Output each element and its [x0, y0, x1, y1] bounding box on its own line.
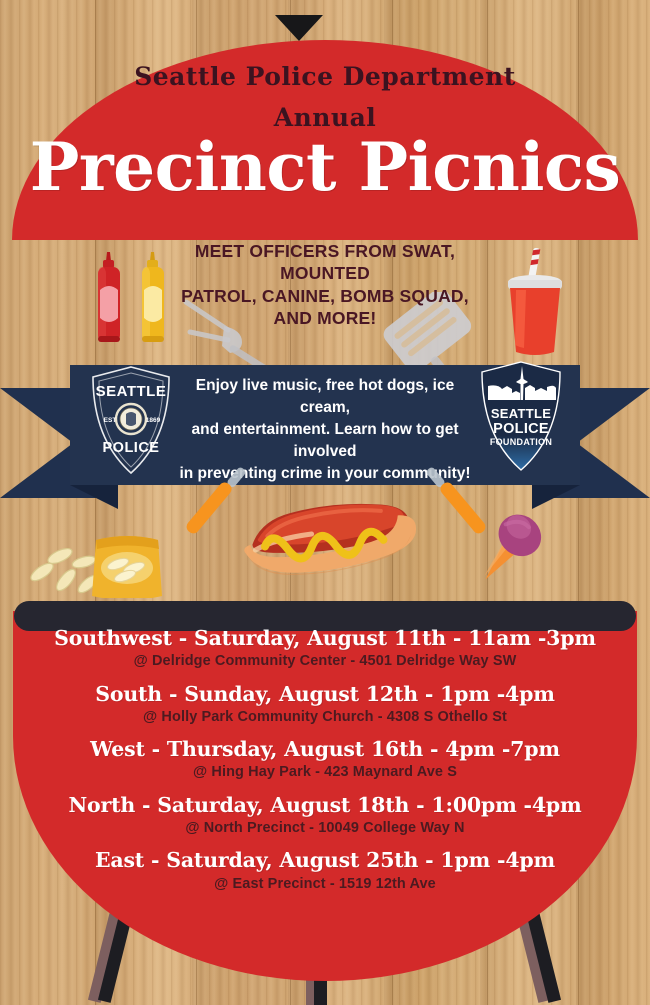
poster-canvas: Seattle Police Department Annual Precinc…	[0, 0, 650, 1005]
seattle-police-badge-logo: SEATTLE EST 1869 POLICE	[88, 364, 174, 476]
subtitle-line-1: MEET OFFICERS FROM SWAT, MOUNTED	[150, 240, 500, 285]
seattle-police-foundation-logo: SEATTLE POLICE FOUNDATION	[478, 360, 564, 472]
subtitle-line-2: PATROL, CANINE, BOMB SQUAD,	[150, 285, 500, 307]
ribbon-line-2: and entertainment. Learn how to get invo…	[170, 419, 480, 463]
event-location: @ East Precinct - 1519 12th Ave	[35, 876, 615, 893]
subtitle-text: MEET OFFICERS FROM SWAT, MOUNTED PATROL,…	[150, 240, 500, 330]
event-item: Southwest - Saturday, August 11th - 11am…	[35, 626, 615, 671]
foundation-line-2: POLICE	[493, 421, 549, 437]
event-item: South - Sunday, August 12th - 1pm -4pm @…	[35, 682, 615, 727]
chips-bag-icon	[26, 522, 166, 598]
event-title: South - Sunday, August 12th - 1pm -4pm	[35, 682, 615, 706]
badge-bottom-label: POLICE	[103, 440, 160, 456]
event-title: North - Saturday, August 18th - 1:00pm -…	[35, 793, 615, 817]
page-title-main: Precinct Picnics	[0, 134, 650, 200]
soda-cup-icon	[502, 248, 568, 356]
badge-est-label: EST	[104, 417, 117, 424]
foundation-line-1: SEATTLE	[491, 406, 551, 421]
grill-knob-icon	[275, 15, 323, 41]
ribbon-line-1: Enjoy live music, free hot dogs, ice cre…	[170, 375, 480, 419]
event-location: @ North Precinct - 10049 College Way N	[35, 820, 615, 837]
event-title: Southwest - Saturday, August 11th - 11am…	[35, 626, 615, 650]
event-title: West - Thursday, August 16th - 4pm -7pm	[35, 737, 615, 761]
page-title-department: Seattle Police Department	[0, 62, 650, 91]
badge-top-label: SEATTLE	[96, 383, 167, 400]
event-location: @ Delridge Community Center - 4501 Delri…	[35, 653, 615, 670]
event-item: North - Saturday, August 18th - 1:00pm -…	[35, 793, 615, 838]
ketchup-bottle-icon	[92, 252, 126, 344]
event-title: East - Saturday, August 25th - 1pm -4pm	[35, 848, 615, 872]
event-item: West - Thursday, August 16th - 4pm -7pm …	[35, 737, 615, 782]
event-location: @ Holly Park Community Church - 4308 S O…	[35, 709, 615, 726]
ice-cream-cone-icon	[462, 506, 558, 590]
foundation-line-3: FOUNDATION	[490, 437, 552, 447]
event-schedule-list: Southwest - Saturday, August 11th - 11am…	[35, 626, 615, 893]
subtitle-line-3: AND MORE!	[150, 307, 500, 329]
badge-year-label: 1869	[146, 417, 161, 424]
event-location: @ Hing Hay Park - 423 Maynard Ave S	[35, 764, 615, 781]
event-item: East - Saturday, August 25th - 1pm -4pm …	[35, 848, 615, 893]
hot-dog-icon	[238, 492, 424, 578]
